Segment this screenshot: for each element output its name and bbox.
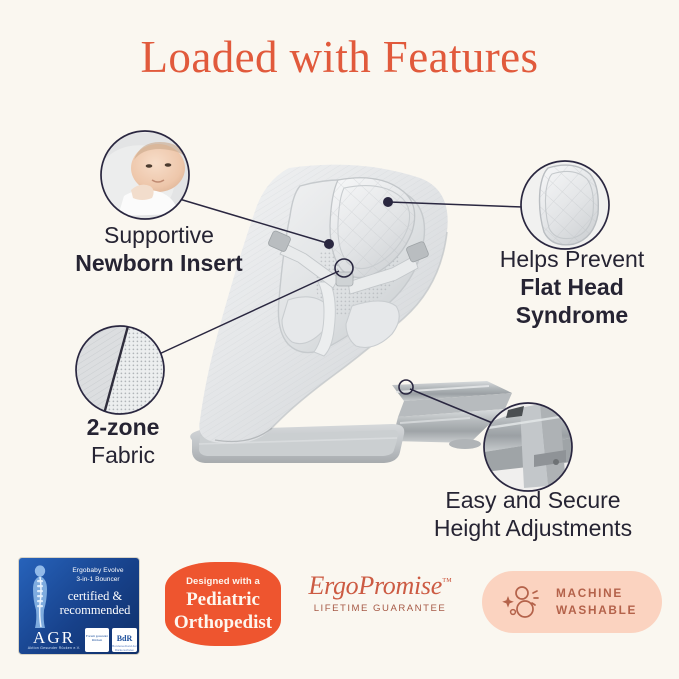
- callout-label-newborn-line2: Newborn Insert: [44, 250, 274, 278]
- callout-thumb-height-adjustment: [484, 403, 572, 491]
- agr-product-line1: Ergobaby Evolve: [59, 567, 137, 574]
- certification-badges-row: Ergobaby Evolve 3-in-1 Bouncer certified…: [0, 551, 679, 663]
- callout-label-flathead-line2: Flat Head: [472, 274, 672, 302]
- marker-flathead-dot: [383, 197, 393, 207]
- marker-newborn-dot: [324, 239, 334, 249]
- ergopromise-subtitle: LIFETIME GUARANTEE: [300, 603, 460, 614]
- callout-thumb-flat-head: [521, 161, 609, 249]
- machine-washable-line2: WASHABLE: [556, 602, 637, 619]
- ergopromise-trademark: ™: [442, 576, 452, 587]
- agr-cert-line1: certified &: [53, 589, 137, 603]
- ergopromise-name: ErgoPromise: [309, 571, 442, 600]
- machine-washable-text: MACHINE WASHABLE: [556, 585, 637, 619]
- machine-washable-line1: MACHINE: [556, 585, 637, 602]
- agr-logo-subtitle: Aktion Gesunder Rücken e.V.: [24, 646, 84, 650]
- callout-label-fabric-line2: Fabric: [48, 442, 198, 470]
- bubbles-sparkle-icon: [501, 584, 547, 620]
- badge-machine-washable: MACHINE WASHABLE: [482, 571, 662, 633]
- ergopromise-name-row: ErgoPromise™: [300, 573, 460, 599]
- callout-label-height-line2: Height Adjustments: [388, 515, 678, 543]
- callout-label-fabric-line1: 2-zone: [48, 414, 198, 442]
- agr-sublogo-bdr-text: BdR: [112, 634, 137, 643]
- agr-certified-text: certified & recommended: [53, 589, 137, 617]
- pediatric-line2: Pediatric: [165, 590, 281, 610]
- callout-label-newborn-insert: Supportive Newborn Insert: [44, 222, 274, 278]
- badge-agr-certified: Ergobaby Evolve 3-in-1 Bouncer certified…: [18, 557, 140, 655]
- bouncer-product: [190, 165, 512, 463]
- callout-thumb-newborn-insert: [101, 131, 189, 219]
- agr-logo-text: AGR: [24, 628, 84, 648]
- agr-sublogo-bdr-caption: Bundesverband der Rückenschulen: [112, 644, 137, 652]
- callout-label-flathead-line1: Helps Prevent: [472, 246, 672, 274]
- pediatric-line3: Orthopedist: [165, 613, 281, 633]
- agr-sublogo-forum: Forum gesunder Rücken: [85, 628, 109, 652]
- callout-label-newborn-line1: Supportive: [44, 222, 274, 250]
- callout-label-two-zone-fabric: 2-zone Fabric: [48, 414, 198, 470]
- agr-cert-line2: recommended: [53, 603, 137, 617]
- pediatric-line1: Designed with a: [165, 576, 281, 587]
- badge-ergopromise: ErgoPromise™ LIFETIME GUARANTEE: [300, 573, 460, 614]
- callout-thumb-two-zone-fabric: [76, 326, 164, 414]
- agr-sublogo-forum-text: Forum gesunder Rücken: [85, 634, 109, 643]
- infographic-page: Loaded with Features: [0, 0, 679, 679]
- spine-silhouette-icon: [25, 564, 55, 630]
- badge-pediatric-orthopedist: Designed with a Pediatric Orthopedist: [165, 562, 281, 646]
- agr-product-line2: 3-in-1 Bouncer: [59, 576, 137, 583]
- callout-label-flathead-line3: Syndrome: [472, 302, 672, 330]
- callout-label-flat-head: Helps Prevent Flat Head Syndrome: [472, 246, 672, 329]
- callout-label-height-adjustment: Easy and Secure Height Adjustments: [388, 487, 678, 543]
- callout-label-height-line1: Easy and Secure: [388, 487, 678, 515]
- agr-sublogo-bdr: BdR Bundesverband der Rückenschulen: [112, 628, 137, 652]
